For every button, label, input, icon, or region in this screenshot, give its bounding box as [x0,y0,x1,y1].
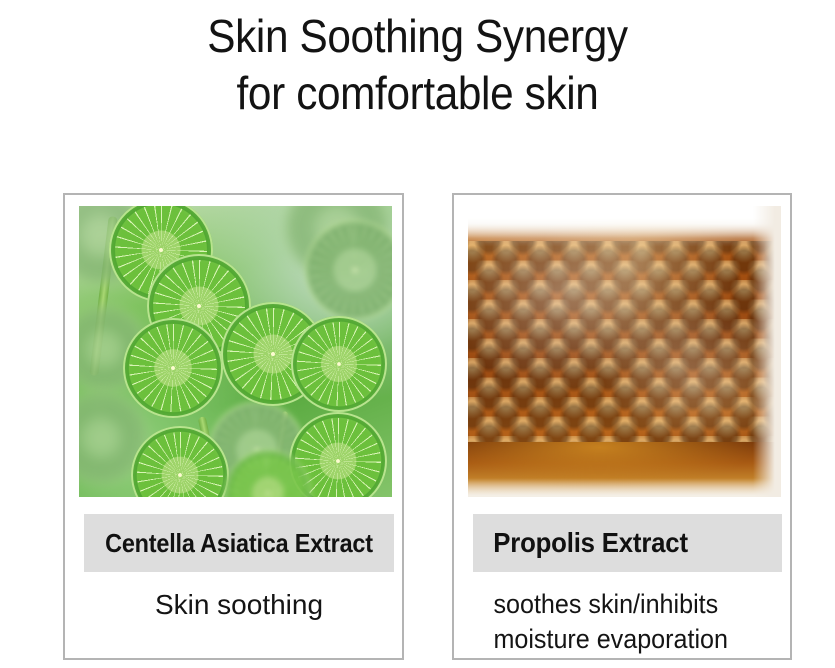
honeycomb-right-edge [753,206,781,497]
page-title: Skin Soothing Synergy for comfortable sk… [0,8,835,122]
ingredient-benefit: soothes skin/inhibits moisture evaporati… [473,587,761,657]
ingredient-benefit-line: soothes skin/inhibits [493,587,761,622]
ingredient-name: Centella Asiatica Extract [100,528,379,559]
ingredient-name: Propolis Extract [473,527,757,559]
leaf-scene-background [79,206,392,497]
ingredient-card-propolis: Propolis Extract soothes skin/inhibits m… [452,193,792,660]
ingredient-card-centella: Centella Asiatica Extract Skin soothing [63,193,404,660]
leaf-icon [305,220,392,320]
page-title-line-2: for comfortable skin [33,65,801,122]
ingredient-benefit-line: Skin soothing [155,589,323,620]
page-title-line-1: Skin Soothing Synergy [33,8,801,65]
leaf-icon [291,316,387,412]
ingredient-name-band: Centella Asiatica Extract [84,514,394,572]
propolis-honeycomb-photo [468,206,781,497]
ingredient-benefit-line: moisture evaporation [493,622,761,657]
honeycomb-scene-background [468,206,781,497]
ingredient-name-band: Propolis Extract [473,514,782,572]
honeycomb-top-edge [468,206,781,238]
leaf-icon [123,318,223,418]
centella-asiatica-leaves-photo [79,206,392,497]
honey-drip [468,442,781,497]
ingredient-benefit: Skin soothing [84,587,394,623]
